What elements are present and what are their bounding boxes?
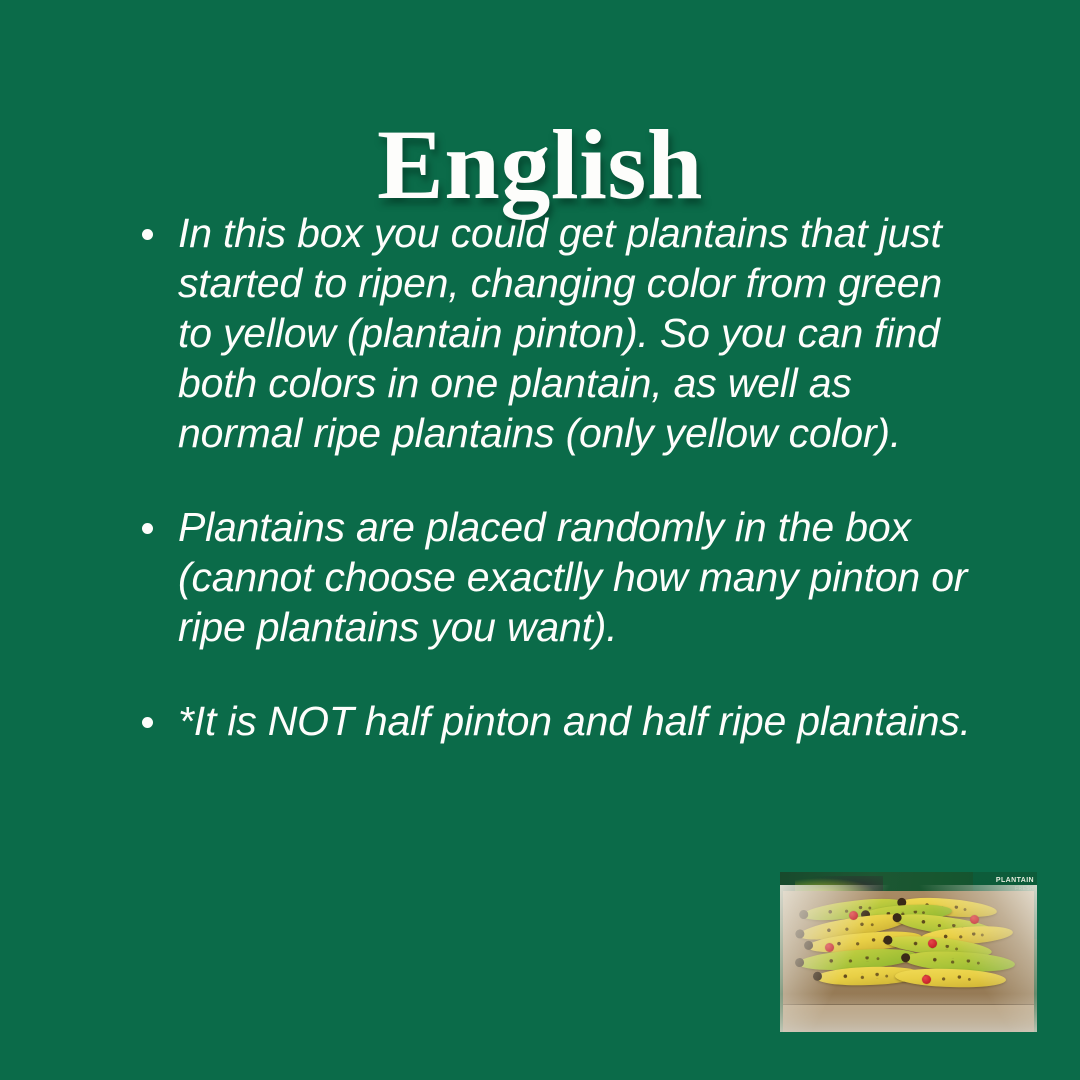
plantain-box-photo: PLANTAIN FRESH FRUIT [780, 872, 1037, 1032]
bullet-dot-icon [142, 717, 153, 728]
bullet-text-not-half: *It is NOT half pinton and half ripe pla… [178, 696, 978, 746]
slide-root: English In this box you could get planta… [0, 0, 1080, 1080]
plantain-sticker-icon [825, 943, 834, 952]
bullet-list: In this box you could get plantains that… [138, 208, 978, 746]
photo-box-front-lip [783, 1004, 1035, 1032]
bullet-text-random-placement: Plantains are placed randomly in the box… [178, 502, 978, 652]
bullet-item-ripeness: In this box you could get plantains that… [138, 208, 978, 458]
bullet-dot-icon [142, 229, 153, 240]
bullet-dot-icon [142, 523, 153, 534]
photo-scene: PLANTAIN FRESH FRUIT [780, 872, 1037, 1032]
photo-plantain-pile [798, 899, 1019, 1001]
bullet-item-random-placement: Plantains are placed randomly in the box… [138, 502, 978, 652]
plantain-sticker-icon [970, 915, 979, 924]
bullet-text-ripeness: In this box you could get plantains that… [178, 208, 978, 458]
page-title: English [0, 113, 1080, 217]
photo-label-line-1: PLANTAIN [973, 877, 1034, 886]
bullet-item-not-half: *It is NOT half pinton and half ripe pla… [138, 696, 978, 746]
plantain-sticker-icon [922, 975, 931, 984]
